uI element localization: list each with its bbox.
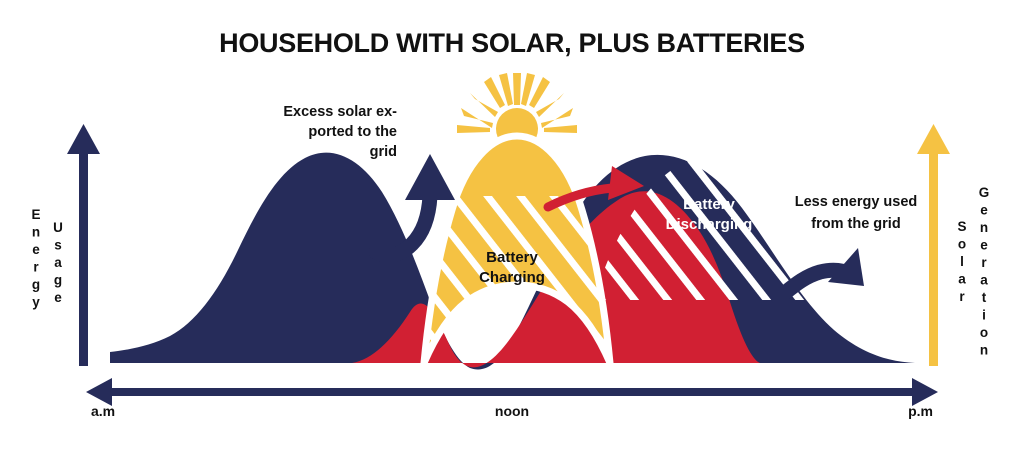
y-axis-right-shaft	[929, 148, 938, 366]
vertical-label-letter: n	[980, 220, 988, 235]
energy-solar-battery-chart: HOUSEHOLD WITH SOLAR, PLUS BATTERIES	[0, 0, 1024, 459]
vertical-label-letter: r	[981, 255, 987, 270]
excess-solar-line1: Excess solar ex-	[283, 104, 397, 120]
vertical-label-letter: t	[982, 290, 987, 305]
vertical-label-letter: e	[980, 203, 988, 218]
vertical-label-letter: e	[980, 238, 988, 253]
vertical-label-letter: i	[982, 308, 986, 323]
vertical-label-letter: l	[960, 254, 964, 269]
excess-solar-line3: grid	[370, 144, 397, 160]
y-axis-left-arrowhead	[67, 124, 100, 154]
battery-discharging-line2: Discharging	[666, 216, 753, 233]
vertical-label-letter: E	[31, 207, 40, 222]
vertical-label-letter: r	[33, 260, 39, 275]
x-tick-am: a.m	[91, 403, 115, 419]
page-title: HOUSEHOLD WITH SOLAR, PLUS BATTERIES	[219, 28, 805, 58]
y-axis-left-label-col2: Usage	[53, 220, 63, 305]
vertical-label-letter: e	[54, 290, 62, 305]
vertical-label-letter: n	[32, 225, 40, 240]
vertical-label-letter: g	[54, 273, 62, 288]
vertical-label-letter: a	[54, 255, 62, 270]
excess-solar-line2: ported to the	[308, 124, 397, 140]
y-axis-right	[917, 124, 950, 366]
vertical-label-letter: a	[980, 273, 988, 288]
vertical-label-letter: G	[979, 185, 990, 200]
x-axis-arrowhead-left	[86, 378, 112, 406]
vertical-label-letter: n	[980, 343, 988, 358]
battery-charging-line1: Battery	[486, 249, 538, 266]
infographic-root: HOUSEHOLD WITH SOLAR, PLUS BATTERIES	[0, 0, 1024, 459]
less-energy-line1: Less energy used	[795, 194, 918, 210]
vertical-label-letter: a	[958, 272, 966, 287]
y-axis-right-label: Solar Generation	[957, 185, 989, 358]
vertical-label-letter: S	[957, 219, 966, 234]
y-axis-right-label-col2: Generation	[979, 185, 990, 358]
less-energy-line2: from the grid	[811, 216, 900, 232]
annotation-less-energy: Less energy used from the grid	[795, 194, 918, 232]
x-axis-arrowhead-right	[912, 378, 938, 406]
y-axis-left-label-col1: Energy	[31, 207, 40, 310]
vertical-label-letter: U	[53, 220, 63, 235]
export-arrow-head	[405, 154, 455, 200]
vertical-label-letter: o	[980, 325, 988, 340]
battery-charging-line2: Charging	[479, 269, 545, 286]
y-axis-right-arrowhead	[917, 124, 950, 154]
annotation-excess-solar: Excess solar ex- ported to the grid	[283, 104, 397, 160]
x-axis-time	[86, 378, 938, 406]
x-tick-pm: p.m	[908, 403, 933, 419]
y-axis-left-label: Energy Usage	[31, 207, 62, 310]
vertical-label-letter: s	[54, 238, 62, 253]
x-axis-shaft	[108, 388, 916, 396]
vertical-label-letter: r	[959, 289, 965, 304]
battery-discharging-line1: Battery	[683, 196, 735, 213]
vertical-label-letter: e	[32, 242, 40, 257]
y-axis-left-shaft	[79, 148, 88, 366]
x-tick-noon: noon	[495, 403, 529, 419]
vertical-label-letter: y	[32, 295, 40, 310]
vertical-label-letter: g	[32, 277, 40, 292]
y-axis-right-label-col1: Solar	[957, 219, 966, 304]
y-axis-left	[67, 124, 100, 366]
vertical-label-letter: o	[958, 237, 966, 252]
